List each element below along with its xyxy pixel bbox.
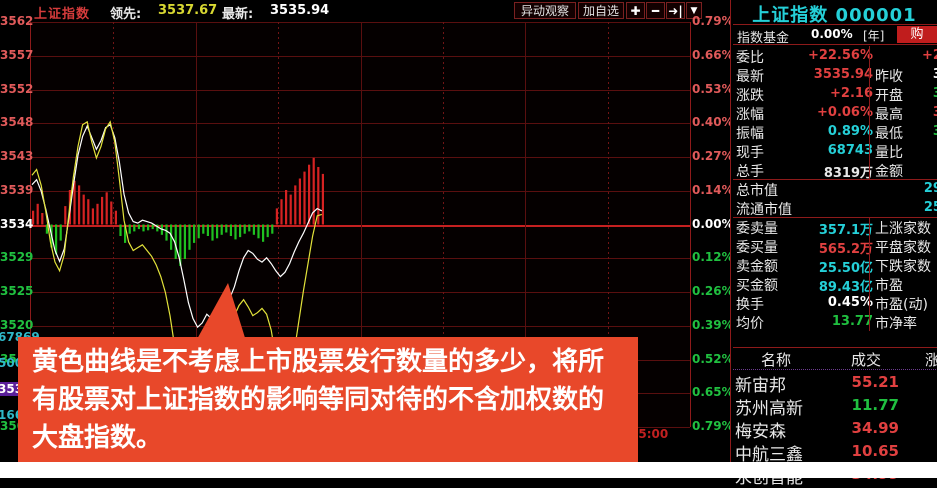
quote-row: 委买量565.2万平盘家数 — [733, 236, 937, 255]
zoom-out-button[interactable]: ━ — [646, 2, 665, 19]
panel-title: 上证指数 000001 — [731, 1, 937, 23]
index-fund-label: 指数基金 — [737, 27, 789, 46]
quote-label-secondary: 最高 — [875, 104, 903, 124]
percent-axis-tick: 0.65% — [692, 385, 734, 399]
price-axis-tick: 3557 — [0, 48, 28, 62]
quote-value: +2.16 — [777, 86, 873, 101]
quote-label-secondary: 开盘 — [875, 85, 903, 105]
quote-value: 68743 — [777, 143, 873, 158]
quote-row: 委比+22.56%+20 — [733, 46, 937, 65]
stock-terminal-window: 上证指数 领先: 3537.67 最新: 3535.94 异动观察 加自选 ✚ … — [0, 0, 937, 478]
quote-value: +22.56% — [777, 48, 873, 63]
quote-label-secondary: 金额 — [875, 161, 903, 181]
quote-value-secondary: 35 — [911, 124, 937, 139]
quote-value-secondary: 293 — [911, 181, 937, 196]
quote-row: 总手8319万金额1 — [733, 160, 937, 179]
lead-label: 领先: — [110, 3, 141, 22]
percent-axis-tick: 0.53% — [692, 82, 734, 96]
quote-value: 13.77 — [777, 314, 873, 329]
quote-label: 最新 — [736, 66, 764, 86]
stock-price: 55.21 — [841, 373, 899, 391]
percent-axis-tick: 0.12% — [692, 250, 734, 264]
price-axis-tick: 3552 — [0, 82, 28, 96]
quote-value-secondary: +20 — [911, 48, 937, 63]
quote-detail-panel: 上证指数 000001 指数基金 0.00% [年] 购 委比+22.56%+2… — [730, 0, 937, 478]
quote-label-secondary: 量比 — [875, 142, 903, 162]
abnormal-watch-button[interactable]: 异动观察 — [514, 2, 576, 19]
quote-row: 涨幅+0.06%最高35 — [733, 103, 937, 122]
stock-list-row[interactable]: 梅安森34.99 — [733, 416, 937, 439]
quote-label-secondary: 下跌家数 — [875, 256, 931, 276]
quote-label-secondary: 上涨家数 — [875, 218, 931, 238]
callout-text: 黄色曲线是不考虑上市股票发行数量的多少，将所有股票对上证指数的影响等同对待的不含… — [32, 343, 628, 457]
percent-axis-tick: 0.79% — [692, 419, 734, 433]
stock-price: 10.65 — [841, 442, 899, 460]
stock-list-row[interactable]: 中航三鑫10.65 — [733, 439, 937, 462]
quote-row: 涨跌+2.16开盘35 — [733, 84, 937, 103]
index-fund-unit: [年] — [863, 27, 884, 44]
percent-axis-tick: 0.79% — [692, 14, 734, 28]
quote-row: 现手68743量比 — [733, 141, 937, 160]
stock-price: 11.77 — [841, 396, 899, 414]
quote-label: 流通市值 — [736, 199, 792, 219]
quote-row: 振幅0.89%最低35 — [733, 122, 937, 141]
quote-value: +0.06% — [777, 105, 873, 120]
quote-value-secondary: 35 — [911, 86, 937, 101]
quote-value-secondary: 1 — [911, 162, 937, 177]
last-value: 3535.94 — [270, 3, 329, 18]
quote-value-secondary: 35 — [911, 105, 937, 120]
quote-row: 换手0.45%市盈(动) — [733, 293, 937, 312]
index-fund-value: 0.00% — [811, 27, 853, 41]
quote-label: 涨跌 — [736, 85, 764, 105]
quote-value: 0.45% — [777, 295, 873, 310]
lead-value: 3537.67 — [158, 3, 217, 18]
quote-label-secondary: 昨收 — [875, 66, 903, 86]
quote-label: 现手 — [736, 142, 764, 162]
chart-header-bar: 上证指数 领先: 3537.67 最新: 3535.94 异动观察 加自选 ✚ … — [0, 0, 730, 22]
percent-axis-tick: 0.14% — [692, 183, 734, 197]
percent-axis-tick: 0.26% — [692, 284, 734, 298]
column-header-price: 成交 — [851, 349, 881, 370]
quote-value: 0.89% — [777, 124, 873, 139]
add-favorite-button[interactable]: 加自选 — [578, 2, 624, 19]
column-header-change: 涨 — [925, 349, 937, 370]
price-axis-tick: 3534 — [0, 217, 28, 231]
quote-row: 卖金额25.50亿下跌家数 — [733, 255, 937, 274]
last-label: 最新: — [222, 3, 253, 22]
column-divider — [869, 217, 870, 331]
percent-axis-tick: 0.00% — [692, 217, 734, 231]
quote-row: 流通市值251 — [733, 198, 937, 217]
quote-label: 买金额 — [736, 275, 778, 295]
quote-label: 涨幅 — [736, 104, 764, 124]
percent-axis-tick: 0.66% — [692, 48, 734, 62]
percent-axis-tick: 0.52% — [692, 352, 734, 366]
quote-row: 委卖量357.1万上涨家数 — [733, 217, 937, 236]
quote-label: 委买量 — [736, 237, 778, 257]
quote-value: 3535.94 — [777, 67, 873, 82]
quote-label-secondary: 市盈(动) — [875, 294, 928, 314]
index-fund-row: 指数基金 0.00% [年] 购 — [733, 24, 937, 45]
percent-axis-tick: 0.40% — [692, 115, 734, 129]
quote-label: 总市值 — [736, 180, 778, 200]
stock-price: 34.99 — [841, 419, 899, 437]
price-axis-tick: 3529 — [0, 250, 28, 264]
column-divider — [869, 46, 870, 179]
stock-list-row[interactable]: 新宙邦55.21 — [733, 370, 937, 393]
annotation-callout: 黄色曲线是不考虑上市股票发行数量的多少，将所有股票对上证指数的影响等同对待的不含… — [18, 337, 638, 462]
quote-label: 委卖量 — [736, 218, 778, 238]
chart-index-name: 上证指数 — [34, 3, 90, 22]
quote-row: 均价13.77市净率 — [733, 312, 937, 331]
quote-value-secondary: 251 — [911, 200, 937, 215]
quote-label-secondary: 最低 — [875, 123, 903, 143]
stock-list-header: 名称 成交 涨 — [733, 347, 937, 370]
next-button[interactable]: ➜| — [666, 2, 685, 19]
price-axis-tick: 3548 — [0, 115, 28, 129]
quote-label-secondary: 市盈 — [875, 275, 903, 295]
price-axis-tick: 3539 — [0, 183, 28, 197]
quote-label: 振幅 — [736, 123, 764, 143]
price-axis-tick: 3543 — [0, 149, 28, 163]
quote-label: 卖金额 — [736, 256, 778, 276]
quote-row: 买金额89.43亿市盈 — [733, 274, 937, 293]
price-axis-tick: 3525 — [0, 284, 28, 298]
bottom-crop-band — [0, 462, 937, 478]
percent-axis-tick: 0.27% — [692, 149, 734, 163]
quote-label-secondary: 市净率 — [875, 313, 917, 333]
stock-list-row[interactable]: 苏州高新11.77 — [733, 393, 937, 416]
quote-value-secondary: 35 — [911, 67, 937, 82]
quote-label: 总手 — [736, 161, 764, 181]
quote-row: 最新3535.94昨收35 — [733, 65, 937, 84]
quote-row: 总市值293 — [733, 179, 937, 198]
quote-label-secondary: 平盘家数 — [875, 237, 931, 257]
column-header-name: 名称 — [761, 349, 791, 370]
quote-label: 换手 — [736, 294, 764, 314]
quote-label: 均价 — [736, 313, 764, 333]
zoom-in-button[interactable]: ✚ — [626, 2, 645, 19]
price-axis-tick: 3562 — [0, 14, 28, 28]
callout-pointer — [196, 283, 246, 341]
percent-axis-tick: 0.39% — [692, 318, 734, 332]
quote-label: 委比 — [736, 47, 764, 67]
buy-button[interactable]: 购 — [897, 26, 937, 43]
